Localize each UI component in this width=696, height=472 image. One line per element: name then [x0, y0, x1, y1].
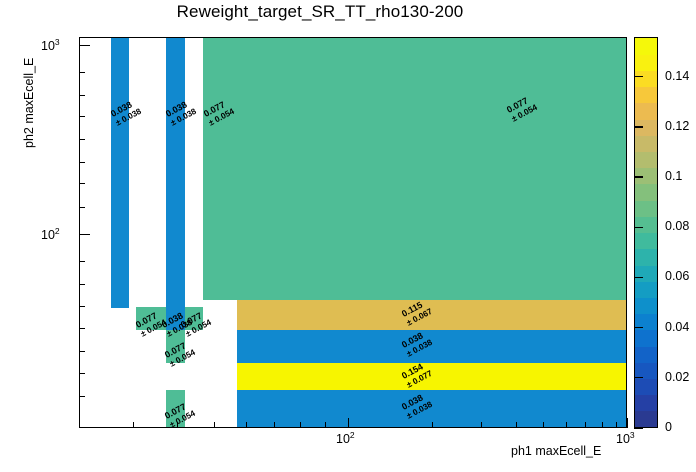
colorbar-tick — [634, 126, 643, 127]
colorbar-tick-label: 0.08 — [665, 219, 689, 233]
x-tick-label-1000: 103 — [616, 430, 635, 446]
colorbar-tick — [634, 377, 643, 378]
colorbar-tick — [634, 227, 643, 228]
page-title: Reweight_target_SR_TT_rho130-200 — [0, 2, 640, 22]
colorbar-tick-label: 0.12 — [665, 119, 689, 133]
colorbar-segment — [635, 54, 657, 71]
plot-canvas: Reweight_target_SR_TT_rho130-200 — [0, 0, 696, 472]
colorbar-tick — [634, 76, 643, 77]
colorbar-segment — [635, 87, 657, 104]
colorbar-tick — [634, 427, 643, 428]
cell-blue-band-upper[interactable] — [237, 330, 627, 363]
colorbar-gradient — [635, 38, 657, 427]
colorbar-segment — [635, 200, 657, 217]
x-tick-label-100: 102 — [336, 430, 355, 446]
colorbar-tick-label: 0.06 — [665, 269, 689, 283]
colorbar-segment — [635, 135, 657, 152]
cell-left-band-1[interactable] — [111, 38, 129, 308]
cell-cluster-green-left[interactable] — [136, 307, 166, 330]
colorbar-segment — [635, 233, 657, 250]
colorbar-tick — [634, 327, 643, 328]
colorbar-tick — [634, 277, 643, 278]
colorbar-segment — [635, 346, 657, 363]
colorbar-tick-label: 0.02 — [665, 370, 689, 384]
cell-cluster-blue-mid[interactable] — [166, 307, 185, 330]
colorbar-segment — [635, 281, 657, 298]
y-tick-label-100: 102 — [41, 226, 60, 242]
cell-bottom-green[interactable] — [166, 390, 185, 428]
colorbar-segment — [635, 297, 657, 314]
colorbar-segment — [635, 38, 657, 55]
colorbar-segment — [635, 395, 657, 412]
cell-big-green-block[interactable] — [203, 38, 627, 300]
colorbar-segment — [635, 216, 657, 233]
y-tick-label-1000: 103 — [41, 37, 60, 53]
colorbar-segment — [635, 265, 657, 282]
colorbar[interactable] — [634, 37, 658, 428]
cell-yellow-band[interactable] — [237, 363, 627, 390]
colorbar-tick-label: 0.1 — [665, 169, 682, 183]
cell-cluster-green-right[interactable] — [185, 307, 203, 330]
colorbar-segment — [635, 378, 657, 395]
cell-gold-band[interactable] — [237, 300, 627, 330]
colorbar-segment — [635, 249, 657, 266]
colorbar-segment — [635, 411, 657, 428]
colorbar-segment — [635, 184, 657, 201]
colorbar-tick — [634, 176, 643, 177]
colorbar-tick-label: 0.04 — [665, 320, 689, 334]
heatmap-cells: 0.038 ± 0.038 0.038 ± 0.038 0.077 ± 0.05… — [80, 38, 626, 427]
colorbar-segment — [635, 70, 657, 87]
y-axis-title: ph2 maxEcell_E — [22, 58, 36, 148]
colorbar-tick-label: 0 — [665, 420, 672, 434]
colorbar-segment — [635, 103, 657, 120]
colorbar-segment — [635, 330, 657, 347]
colorbar-tick-label: 0.14 — [665, 69, 689, 83]
cell-cluster-green-low[interactable] — [166, 330, 185, 363]
histogram-frame[interactable]: 0.038 ± 0.038 0.038 ± 0.038 0.077 ± 0.05… — [79, 37, 627, 428]
x-axis-title: ph1 maxEcell_E — [511, 444, 601, 458]
colorbar-segment — [635, 151, 657, 168]
cell-left-band-2[interactable] — [166, 38, 185, 330]
